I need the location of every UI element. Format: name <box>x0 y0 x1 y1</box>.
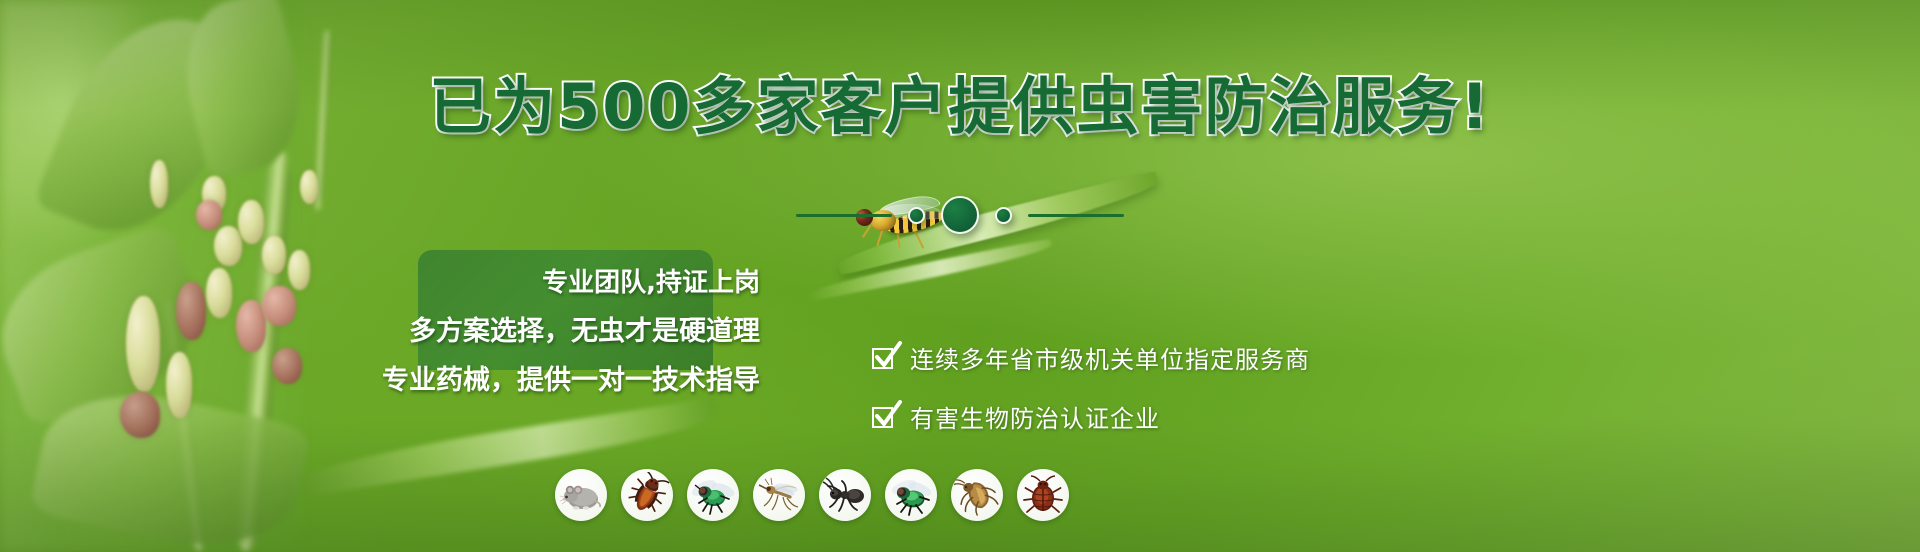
feature-label: 有害生物防治认证企业 <box>910 399 1160 434</box>
decorative-divider <box>0 196 1920 234</box>
flea-icon[interactable] <box>951 469 1003 521</box>
mosquito-icon[interactable] <box>753 469 805 521</box>
bedbug-icon[interactable] <box>1017 469 1069 521</box>
ant-icon[interactable] <box>819 469 871 521</box>
feature-item: 连续多年省市级机关单位指定服务商 <box>872 340 1310 375</box>
divider-dot-large <box>941 196 979 234</box>
housefly-icon[interactable] <box>687 469 739 521</box>
divider-dot-small-left <box>908 207 925 224</box>
divider-line-right <box>1028 214 1124 217</box>
slogan-line-2: 多方案选择，无虫才是硬道理 <box>409 309 760 348</box>
feature-item: 有害生物防治认证企业 <box>872 399 1310 434</box>
pest-icon-row <box>555 469 1069 521</box>
page-title: 已为500多家客户提供虫害防治服务! <box>0 76 1920 138</box>
slogan-line-1: 专业团队,持证上岗 <box>542 262 760 299</box>
checkbox-checked-icon <box>872 346 896 370</box>
slogan-list: 专业团队,持证上岗 多方案选择，无虫才是硬道理 专业药械，提供一对一技术指导 <box>340 262 760 397</box>
blowfly-icon[interactable] <box>885 469 937 521</box>
divider-line-left <box>796 214 892 217</box>
mouse-icon[interactable] <box>555 469 607 521</box>
feature-label: 连续多年省市级机关单位指定服务商 <box>910 340 1310 375</box>
checkbox-checked-icon <box>872 405 896 429</box>
feature-list: 连续多年省市级机关单位指定服务商 有害生物防治认证企业 <box>872 340 1310 434</box>
divider-dot-small-right <box>995 207 1012 224</box>
cockroach-icon[interactable] <box>621 469 673 521</box>
slogan-line-3: 专业药械，提供一对一技术指导 <box>382 358 760 397</box>
pest-control-banner: 已为500多家客户提供虫害防治服务! 专业团队,持证上岗 多方案选择，无虫才是硬… <box>0 0 1920 552</box>
